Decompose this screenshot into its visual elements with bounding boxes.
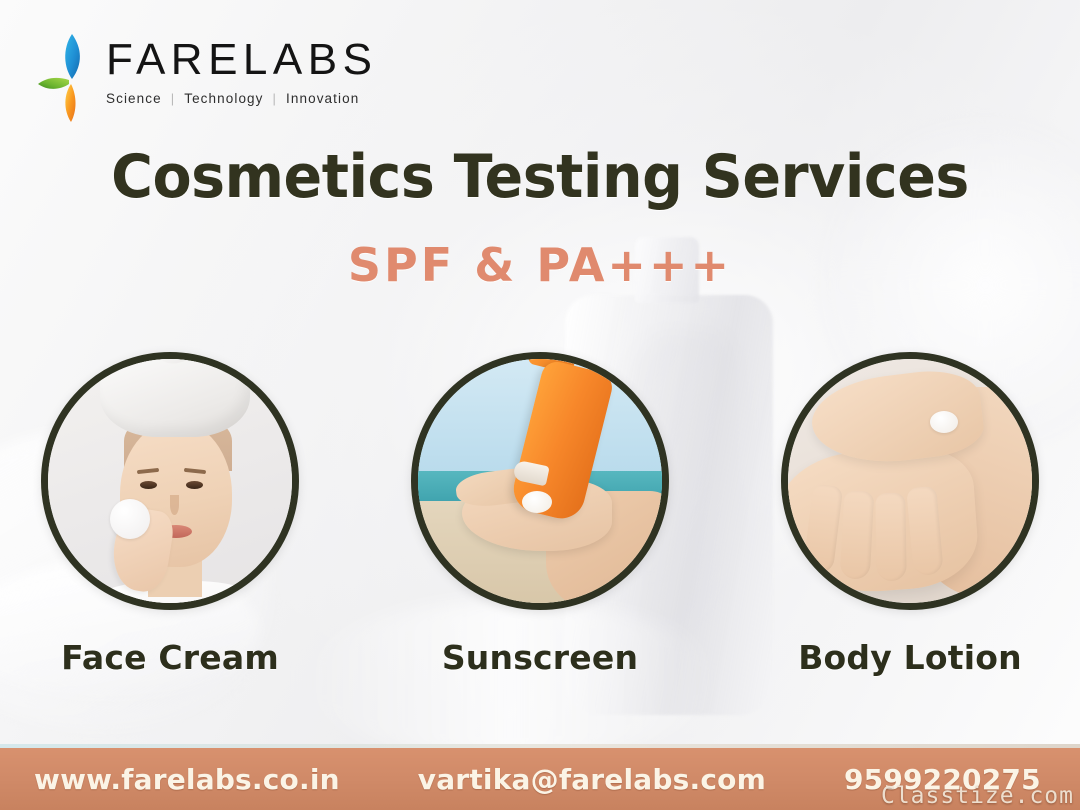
card-label-face-cream: Face Cream <box>61 638 279 677</box>
service-cards: Face Cream Sunscreen <box>0 352 1080 677</box>
brand-name: FARELABS <box>106 38 377 82</box>
contact-email[interactable]: vartika@farelabs.com <box>418 763 766 796</box>
tagline-item-technology: Technology <box>184 91 263 106</box>
brand-logo[interactable]: FARELABS Science | Technology | Innovati… <box>38 32 377 124</box>
circle-image-sunscreen <box>411 352 669 610</box>
tagline-item-science: Science <box>106 91 162 106</box>
tagline-separator: | <box>273 91 277 106</box>
page-title: Cosmetics Testing Services <box>27 142 1053 212</box>
site-watermark: Classtize.com <box>881 783 1074 809</box>
circle-image-face-cream <box>41 352 299 610</box>
brand-text-block: FARELABS Science | Technology | Innovati… <box>106 32 377 106</box>
hands-applying-body-lotion-photo <box>788 359 1032 603</box>
service-card-sunscreen[interactable]: Sunscreen <box>409 352 671 677</box>
service-card-body-lotion[interactable]: Body Lotion <box>779 352 1041 677</box>
contact-website[interactable]: www.farelabs.co.in <box>34 763 340 796</box>
card-label-sunscreen: Sunscreen <box>442 638 638 677</box>
circle-image-body-lotion <box>781 352 1039 610</box>
service-card-face-cream[interactable]: Face Cream <box>39 352 301 677</box>
page-subtitle: SPF & PA+++ <box>0 238 1080 292</box>
hand-dispensing-sunscreen-photo <box>418 359 662 603</box>
brand-tagline: Science | Technology | Innovation <box>106 91 377 106</box>
card-label-body-lotion: Body Lotion <box>798 638 1022 677</box>
tagline-item-innovation: Innovation <box>286 91 359 106</box>
contact-bar: www.farelabs.co.in vartika@farelabs.com … <box>0 748 1080 810</box>
woman-applying-face-cream-photo <box>48 359 292 603</box>
poster-canvas: FARELABS Science | Technology | Innovati… <box>0 0 1080 810</box>
tagline-separator: | <box>171 91 175 106</box>
three-petal-logo-icon <box>38 32 94 124</box>
